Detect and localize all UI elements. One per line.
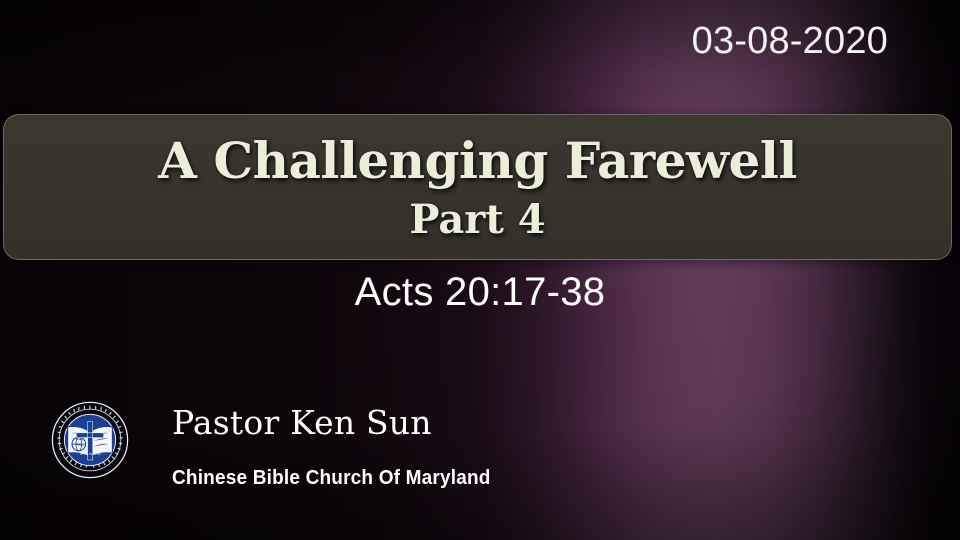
scripture-reference: Acts 20:17-38 [0,272,960,312]
church-seal-logo-icon [50,400,130,480]
speaker-block: Pastor Ken Sun Chinese Bible Church Of M… [48,396,608,496]
title-plaque: A Challenging Farewell Part 4 [3,114,952,260]
sermon-title: A Challenging Farewell [158,136,797,186]
speaker-name: Pastor Ken Sun [172,406,432,439]
sermon-date: 03-08-2020 [692,22,888,60]
sermon-part-label: Part 4 [409,200,545,240]
church-name: Chinese Bible Church Of Maryland [172,468,491,488]
sermon-title-slide: 03-08-2020 A Challenging Farewell Part 4… [0,0,960,540]
